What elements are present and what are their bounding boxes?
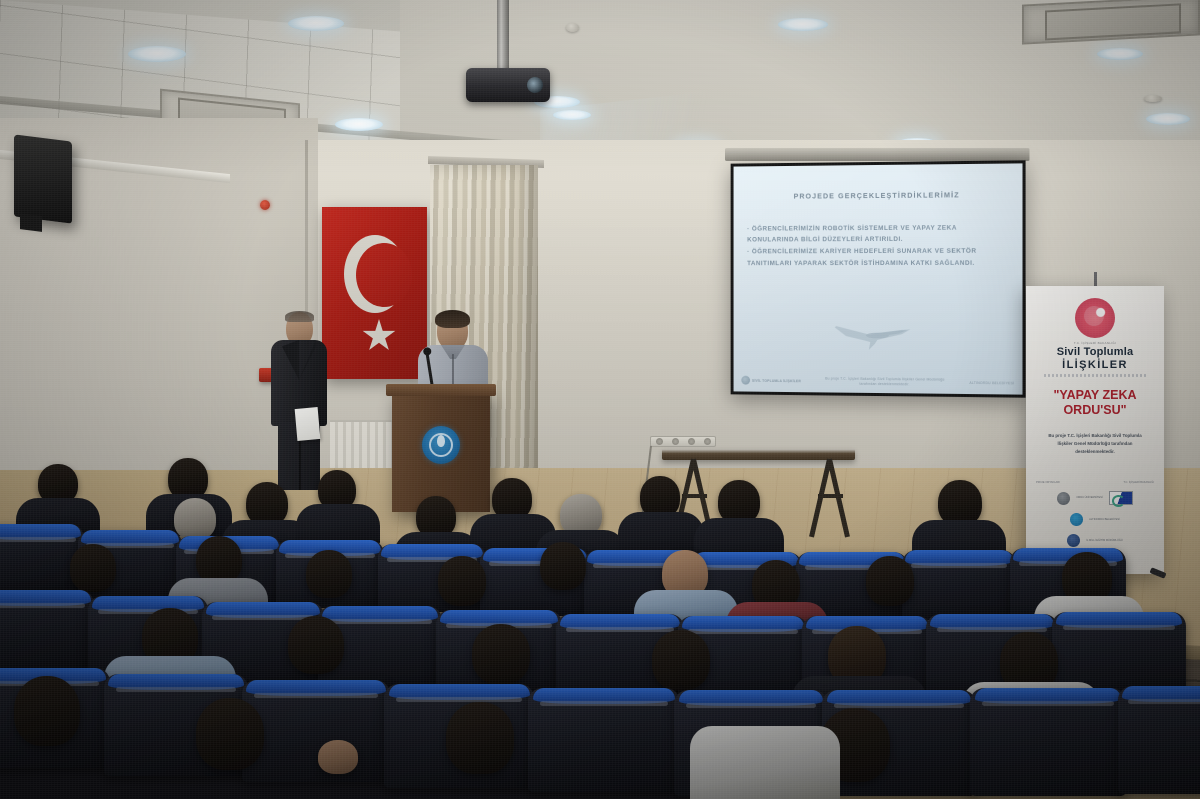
audience-shoulders bbox=[296, 504, 380, 544]
auditorium-seat[interactable] bbox=[902, 550, 1016, 620]
audience-head bbox=[70, 544, 116, 592]
ceiling-light bbox=[288, 16, 344, 31]
fire-alarm-indicator-icon bbox=[260, 200, 270, 210]
audience-head bbox=[306, 550, 352, 598]
banner-kicker: T.C. İÇİŞLERİ BAKANLIĞI bbox=[1026, 341, 1164, 345]
projector bbox=[466, 68, 550, 102]
slide-bullet-item: ÖĞRENCİLERİMİZİN ROBOTİK SİSTEMLER VE YA… bbox=[747, 222, 1010, 246]
audience-shoulders bbox=[690, 726, 840, 799]
podium-top bbox=[386, 384, 496, 396]
slide-footer-left: SİVİL TOPLUMLA İLİŞKİLER bbox=[741, 376, 801, 386]
wall-speaker bbox=[14, 134, 72, 223]
slide-title: PROJEDE GERÇEKLEŞTİRDİKLERİMİZ bbox=[734, 190, 1023, 201]
auditorium-seat[interactable] bbox=[0, 590, 94, 670]
crescent-cutout bbox=[356, 243, 412, 307]
smoke-detector-icon bbox=[566, 23, 579, 32]
ceiling-light bbox=[335, 118, 383, 131]
slide-bullet-item: ÖĞRENCİLERİMİZE KARİYER HEDEFLERİ SUNARA… bbox=[747, 246, 1010, 269]
auditorium-photo: PROJEDE GERÇEKLEŞTİRDİKLERİMİZ ÖĞRENCİLE… bbox=[0, 0, 1200, 799]
projection-screen-case bbox=[725, 148, 1030, 161]
smoke-detector-icon bbox=[1144, 95, 1162, 102]
audience-head bbox=[866, 556, 914, 606]
projector-mount bbox=[497, 0, 509, 72]
slide-bullets: ÖĞRENCİLERİMİZİN ROBOTİK SİSTEMLER VE YA… bbox=[747, 222, 1010, 270]
slide-footer-center: Bu proje T.C. İçişleri Bakanlığı Sivil T… bbox=[825, 376, 945, 387]
audience-head bbox=[540, 542, 586, 590]
audience-head bbox=[446, 702, 514, 774]
audience-head bbox=[196, 536, 242, 584]
banner-org-line1: Sivil Toplumla bbox=[1026, 346, 1164, 358]
official-hair bbox=[285, 311, 314, 322]
audience-hand bbox=[318, 740, 358, 774]
stk-logo-icon bbox=[741, 376, 750, 385]
banner-title: "YAPAY ZEKA ORDU'SU" bbox=[1032, 388, 1158, 419]
presentation-slide: PROJEDE GERÇEKLEŞTİRDİKLERİMİZ ÖĞRENCİLE… bbox=[734, 163, 1023, 394]
audience-shoulders bbox=[618, 512, 704, 554]
slide-footer-right: ALTINORDU BELEDİYESİ bbox=[969, 381, 1014, 385]
auditorium-seat[interactable] bbox=[528, 688, 680, 792]
turkish-flag bbox=[322, 207, 427, 379]
ceiling-light bbox=[1097, 48, 1143, 60]
ministry-logo-icon bbox=[1075, 298, 1115, 338]
ceiling-light bbox=[553, 110, 591, 120]
uav-drone-icon bbox=[833, 320, 919, 354]
banner-org-line2: İLİŞKİLER bbox=[1026, 359, 1164, 371]
ceiling-light bbox=[128, 46, 186, 62]
audience-head bbox=[288, 616, 344, 674]
auditorium-seat[interactable] bbox=[970, 688, 1126, 796]
audience-head bbox=[652, 630, 710, 690]
audience-head bbox=[472, 624, 530, 684]
auditorium-seat[interactable] bbox=[1118, 686, 1200, 794]
auditorium-seat[interactable] bbox=[242, 680, 390, 782]
audience-head bbox=[14, 676, 80, 746]
ceiling-light bbox=[1146, 113, 1190, 125]
banner-divider bbox=[1044, 374, 1146, 377]
audience-head bbox=[438, 556, 486, 606]
star-icon bbox=[362, 319, 396, 353]
projection-screen: PROJEDE GERÇEKLEŞTİRDİKLERİMİZ ÖĞRENCİLE… bbox=[731, 160, 1026, 397]
ceiling-light bbox=[778, 18, 828, 31]
audience-head bbox=[174, 498, 216, 540]
presenter-hair bbox=[435, 310, 470, 328]
slide-footer: SİVİL TOPLUMLA İLİŞKİLER Bu proje T.C. İ… bbox=[734, 375, 1023, 388]
audience bbox=[0, 440, 1200, 799]
held-papers bbox=[295, 407, 321, 441]
projector-lens-icon bbox=[527, 77, 543, 93]
audience-head bbox=[196, 698, 264, 770]
